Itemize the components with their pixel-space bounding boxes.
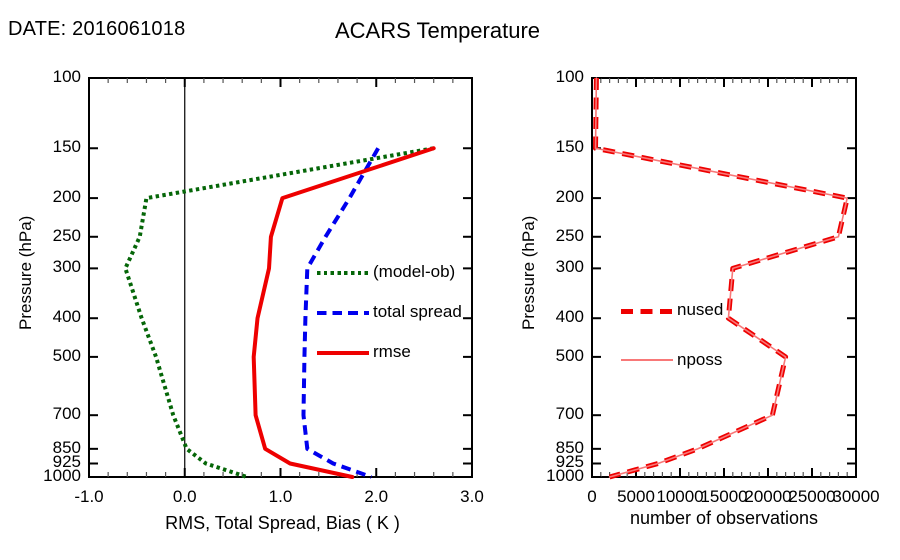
y-tick-label: 250: [506, 226, 584, 246]
legend-swatch-nused: [621, 309, 673, 314]
y-tick-label: 300: [506, 257, 584, 277]
legend-swatch-nposs: [621, 359, 673, 361]
y-tick-label: 200: [506, 187, 584, 207]
legend-label-nposs: nposs: [677, 350, 722, 370]
series-line-nused: [596, 78, 848, 477]
chart-canvas: DATE: 2016061018 ACARS Temperature Press…: [0, 0, 900, 560]
right-plot-area: [0, 0, 900, 560]
series-line-nposs: [596, 78, 848, 477]
y-tick-label: 150: [506, 137, 584, 157]
y-tick-label: 500: [506, 346, 584, 366]
y-tick-label: 1000: [506, 466, 584, 486]
y-tick-label: 700: [506, 404, 584, 424]
x-tick-label: 30000: [810, 487, 900, 507]
y-tick-label: 100: [506, 67, 584, 87]
legend-label-nused: nused: [677, 300, 723, 320]
y-tick-label: 400: [506, 307, 584, 327]
